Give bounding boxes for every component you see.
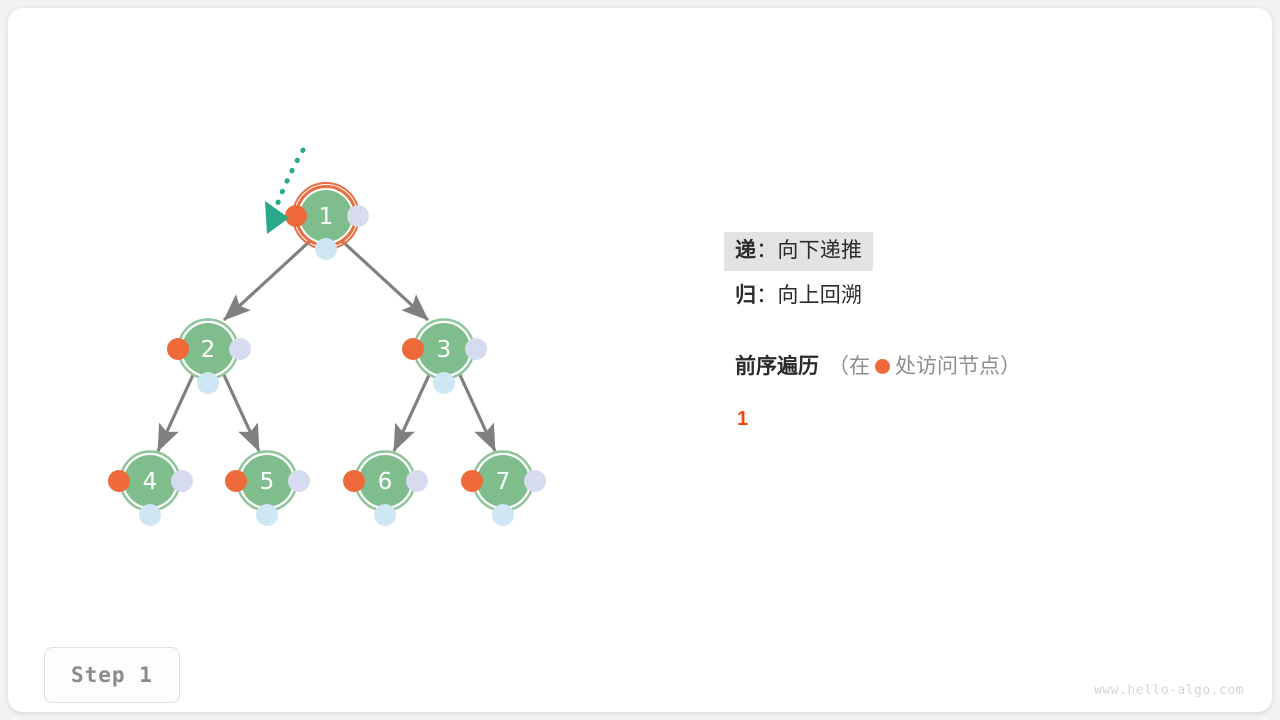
legend-panel: 递：向下递推 归：向上回溯 前序遍历（在处访问节点） 1 xyxy=(728,232,1248,431)
node-3-return-dot-bottom xyxy=(433,372,455,394)
node-5-label: 5 xyxy=(260,469,275,495)
pointer-dotted-path xyxy=(276,150,303,208)
tree-node-6[interactable]: 6 xyxy=(343,452,428,527)
site-watermark: www.hello-algo.com xyxy=(1094,683,1244,698)
pointer-arrowhead-icon xyxy=(265,201,289,234)
node-7-return-dot-right xyxy=(524,470,546,492)
node-6-label: 6 xyxy=(378,469,393,495)
node-5-return-dot-bottom xyxy=(256,504,278,526)
visit-marker-dot-icon xyxy=(875,359,890,374)
tree-node-2[interactable]: 2 xyxy=(167,320,251,395)
visited-sequence: 1 xyxy=(728,408,1248,431)
step-badge: Step 1 xyxy=(44,647,180,703)
edge-2-5 xyxy=(224,375,259,451)
legend-descend-highlight: 递：向下递推 xyxy=(724,232,873,271)
tree-node-7[interactable]: 7 xyxy=(461,452,546,527)
node-1-return-dot-bottom xyxy=(315,238,337,260)
edge-1-3 xyxy=(342,241,428,320)
node-2-label: 2 xyxy=(201,337,216,363)
node-4-label: 4 xyxy=(143,469,158,495)
node-1-return-dot-right xyxy=(347,205,369,227)
tree-node-5[interactable]: 5 xyxy=(225,452,310,527)
legend-ascend-keyword: 归 xyxy=(735,284,756,307)
node-6-return-dot-right xyxy=(406,470,428,492)
node-7-return-dot-bottom xyxy=(492,504,514,526)
node-6-return-dot-bottom xyxy=(374,504,396,526)
node-2-return-dot-bottom xyxy=(197,372,219,394)
traversal-order-row: 前序遍历（在处访问节点） xyxy=(728,344,1248,388)
node-7-label: 7 xyxy=(496,469,511,495)
node-7-call-dot xyxy=(461,470,483,492)
legend-ascend-text: ：向上回溯 xyxy=(756,284,862,307)
legend-descend-row: 递：向下递推 xyxy=(728,232,1248,271)
node-6-call-dot xyxy=(343,470,365,492)
traversal-order-note-close: 处访问节点） xyxy=(895,355,1021,378)
edge-2-4 xyxy=(158,375,193,451)
traversal-order-title: 前序遍历 xyxy=(735,355,819,378)
node-3-call-dot xyxy=(402,338,424,360)
diagram-card: 1 2 3 xyxy=(8,8,1272,712)
node-1-call-dot xyxy=(285,205,307,227)
node-4-call-dot xyxy=(108,470,130,492)
edge-3-7 xyxy=(460,375,495,451)
node-4-return-dot-bottom xyxy=(139,504,161,526)
legend-ascend-row: 归：向上回溯 xyxy=(728,277,1248,316)
node-4-return-dot-right xyxy=(171,470,193,492)
tree-node-4[interactable]: 4 xyxy=(108,452,193,527)
edge-3-6 xyxy=(394,375,429,451)
node-5-call-dot xyxy=(225,470,247,492)
legend-descend-text: ：向下递推 xyxy=(756,239,862,262)
legend-descend-keyword: 递 xyxy=(735,239,756,262)
node-2-return-dot-right xyxy=(229,338,251,360)
edge-1-2 xyxy=(224,241,310,320)
node-2-call-dot xyxy=(167,338,189,360)
node-3-return-dot-right xyxy=(465,338,487,360)
node-5-return-dot-right xyxy=(288,470,310,492)
screenshot-root: 1 2 3 xyxy=(0,0,1280,720)
node-1-label: 1 xyxy=(319,204,334,230)
tree-node-1[interactable]: 1 xyxy=(285,183,369,260)
traversal-order-note-open: （在 xyxy=(828,355,870,378)
tree-node-3[interactable]: 3 xyxy=(402,320,487,395)
node-3-label: 3 xyxy=(437,337,452,363)
